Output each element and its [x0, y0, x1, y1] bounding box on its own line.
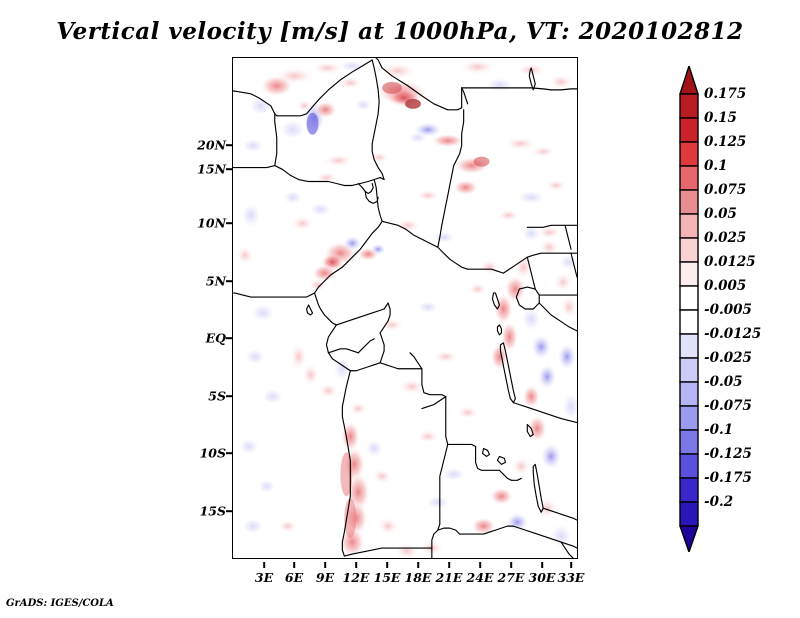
cb-label-14: -0.1 — [704, 422, 733, 438]
cb-label-9: -0.005 — [704, 302, 752, 318]
lat-tick-label-15s: 15S — [200, 504, 226, 519]
lon-tick-label-6e: 6E — [285, 570, 303, 585]
colorbar-tick-labels: 0.175 0.15 0.125 0.1 0.075 0.05 0.025 0.… — [704, 66, 794, 552]
cb-label-6: 0.025 — [704, 230, 746, 246]
cb-label-1: 0.15 — [704, 110, 737, 126]
cb-label-5: 0.05 — [704, 206, 737, 222]
cb-label-13: -0.075 — [704, 398, 752, 414]
lat-tick-label-10s: 10S — [200, 446, 226, 461]
cb-label-4: 0.075 — [704, 182, 746, 198]
longitude-axis: 3E 6E 9E 12E 15E 18E 21E 24E 27E 30E 33E — [232, 562, 578, 586]
cb-label-11: -0.025 — [704, 350, 752, 366]
lon-tick-label-15e: 15E — [374, 570, 401, 585]
map-field — [233, 58, 577, 558]
lat-tick-label-10n: 10N — [197, 216, 226, 231]
lat-tick-label-5n: 5N — [206, 274, 226, 289]
latitude-axis: 20N 15N 10N 5N EQ 5S 10S 15S — [180, 57, 226, 559]
lon-tick-label-30e: 30E — [529, 570, 556, 585]
cb-label-10: -0.0125 — [704, 326, 761, 342]
cb-label-8: 0.005 — [704, 278, 746, 294]
lon-tick-label-9e: 9E — [316, 570, 334, 585]
lat-tick-label-20n: 20N — [197, 138, 226, 153]
lon-tick-label-18e: 18E — [405, 570, 432, 585]
cb-label-0: 0.175 — [704, 86, 746, 102]
lon-tick-label-3e: 3E — [255, 570, 273, 585]
colorbar-swatches — [678, 66, 700, 552]
cb-label-7: 0.0125 — [704, 254, 756, 270]
plot-canvas: Vertical velocity [m/s] at 1000hPa, VT: … — [0, 0, 800, 618]
lon-tick-label-12e: 12E — [343, 570, 370, 585]
lat-tick-label-eq: EQ — [206, 331, 226, 346]
cb-label-2: 0.125 — [704, 134, 746, 150]
cb-label-3: 0.1 — [704, 158, 728, 174]
cb-label-15: -0.125 — [704, 446, 752, 462]
colorbar — [678, 66, 700, 552]
cb-label-17: -0.2 — [704, 494, 733, 510]
lon-tick-label-27e: 27E — [498, 570, 525, 585]
lon-tick-label-21e: 21E — [436, 570, 463, 585]
page-title: Vertical velocity [m/s] at 1000hPa, VT: … — [0, 18, 800, 45]
cb-label-12: -0.05 — [704, 374, 742, 390]
lat-tick-label-15n: 15N — [197, 162, 226, 177]
lon-tick-label-24e: 24E — [467, 570, 494, 585]
map-panel[interactable] — [232, 57, 578, 559]
lat-tick-label-5s: 5S — [208, 389, 226, 404]
cb-label-16: -0.175 — [704, 470, 752, 486]
grads-watermark: GrADS: IGES/COLA — [6, 598, 114, 609]
lon-tick-label-33e: 33E — [558, 570, 585, 585]
